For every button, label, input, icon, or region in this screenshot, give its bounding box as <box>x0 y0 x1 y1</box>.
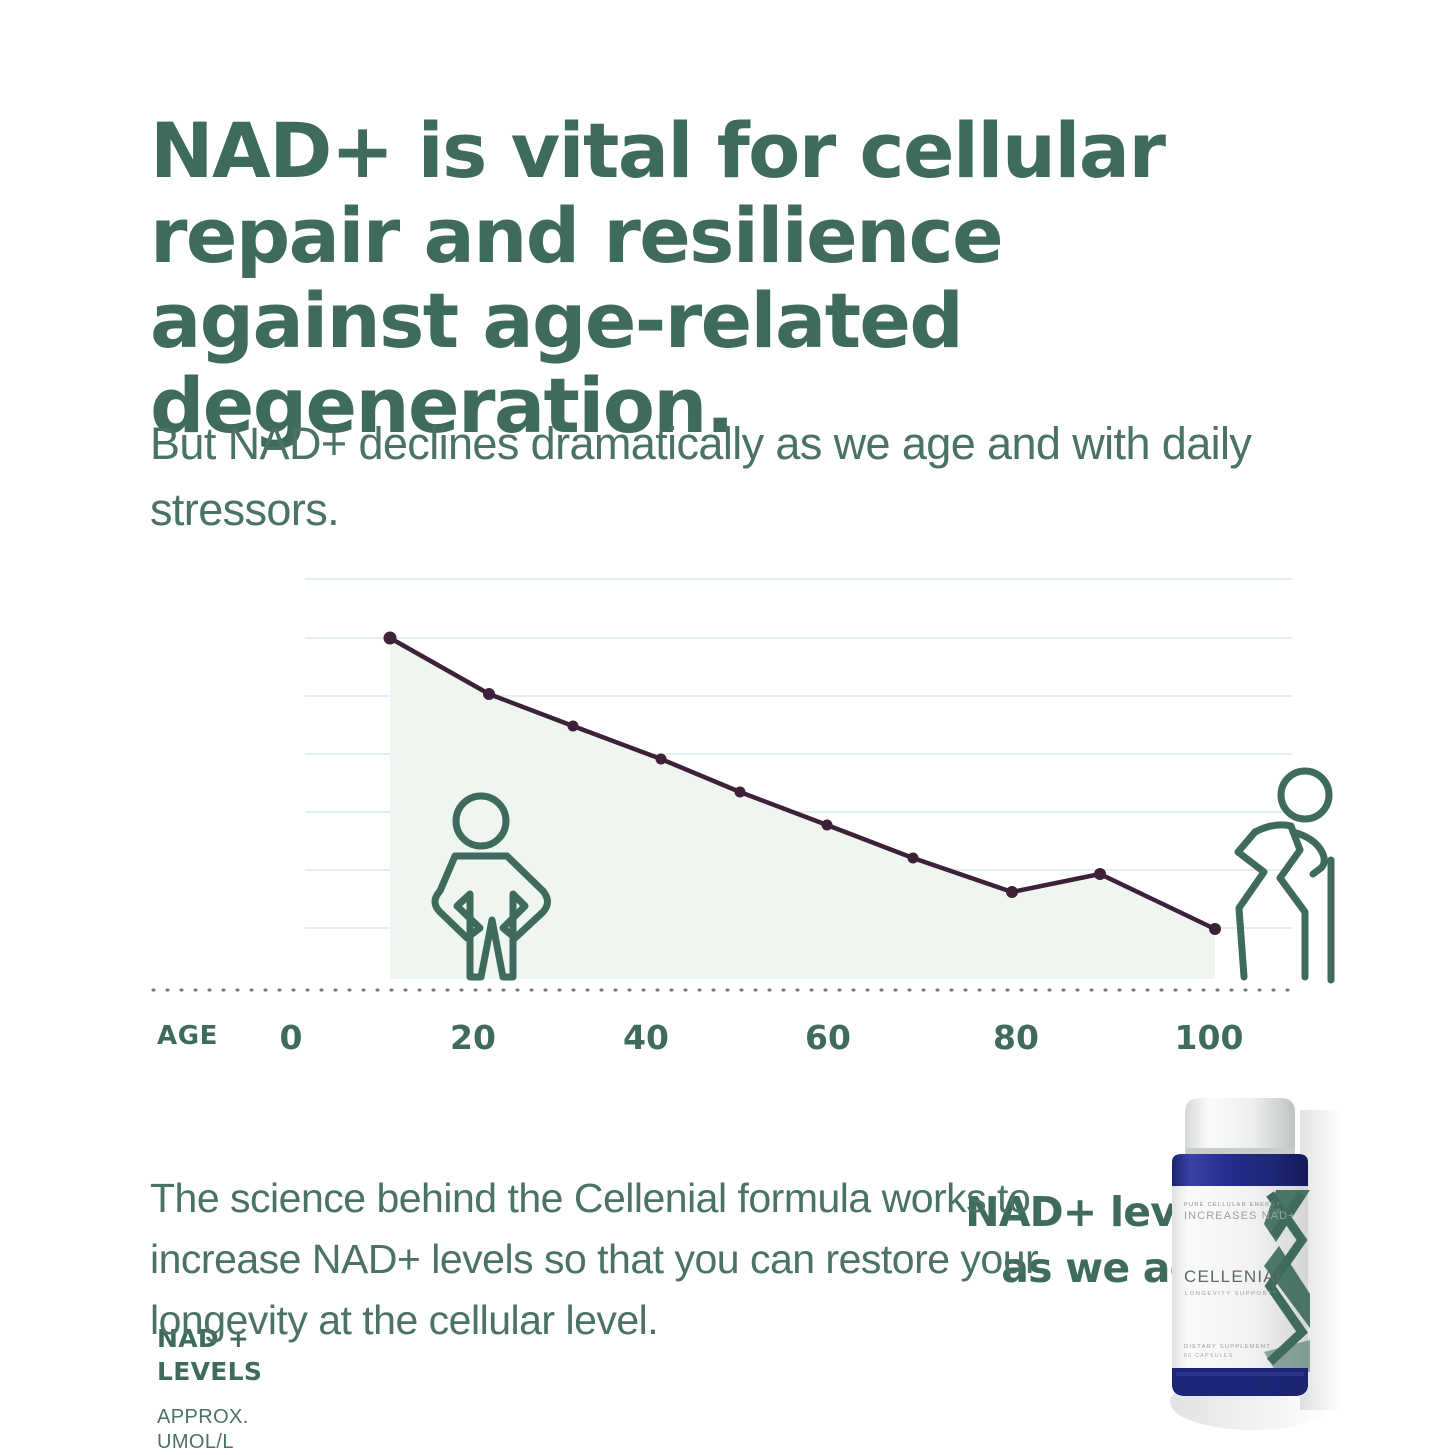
marketing-infographic-page: NAD+ is vital for cellular repair and re… <box>0 0 1445 1444</box>
nad-decline-chart: NAD + LEVELS APPROX. UMOL/L NAD+ levels … <box>0 560 1445 1080</box>
page-title: NAD+ is vital for cellular repair and re… <box>150 108 1310 448</box>
x-axis: AGE 0 20 40 60 80 100 <box>0 1021 1445 1067</box>
product-bottle-image: PURE CELLULAR ENERGY INCREASES NAD+ ® CE… <box>1124 1090 1354 1430</box>
bottle-cap <box>1185 1098 1295 1154</box>
bottle-footer-line1: DIETARY SUPPLEMENT <box>1184 1344 1271 1350</box>
y-axis-sub-line1: APPROX. <box>157 1405 337 1430</box>
y-axis-subtitle: APPROX. UMOL/L <box>157 1405 337 1455</box>
bottle-tagline: LONGEVITY SUPPORT* <box>1185 1291 1277 1297</box>
body-text: The science behind the Cellenial formula… <box>150 1168 1130 1351</box>
x-tick-40: 40 <box>623 1018 669 1057</box>
y-axis-sub-line2: UMOL/L <box>157 1430 337 1455</box>
bottle-eyebrow-text: PURE CELLULAR ENERGY <box>1184 1202 1281 1208</box>
x-tick-0: 0 <box>280 1018 303 1057</box>
bottle-registered-icon: ® <box>1276 1208 1282 1216</box>
bottle-product-name: CELLENIAL <box>1184 1267 1286 1286</box>
bottle-graphic: PURE CELLULAR ENERGY INCREASES NAD+ ® CE… <box>1124 1090 1354 1430</box>
bottle-footer-line2: 60 CAPSULES <box>1184 1353 1233 1359</box>
x-axis-label: AGE <box>157 1021 218 1051</box>
chart-plot-area <box>0 560 1445 1080</box>
elderly-person-with-cane-icon <box>1238 771 1331 980</box>
y-axis-title-line2: LEVELS <box>157 1355 337 1388</box>
x-tick-100: 100 <box>1175 1018 1244 1057</box>
subheading-text: But NAD+ declines dramatically as we age… <box>150 411 1310 543</box>
x-tick-80: 80 <box>993 1018 1039 1057</box>
bottle-base-highlight <box>1176 1372 1304 1376</box>
x-tick-20: 20 <box>450 1018 496 1057</box>
x-tick-60: 60 <box>805 1018 851 1057</box>
